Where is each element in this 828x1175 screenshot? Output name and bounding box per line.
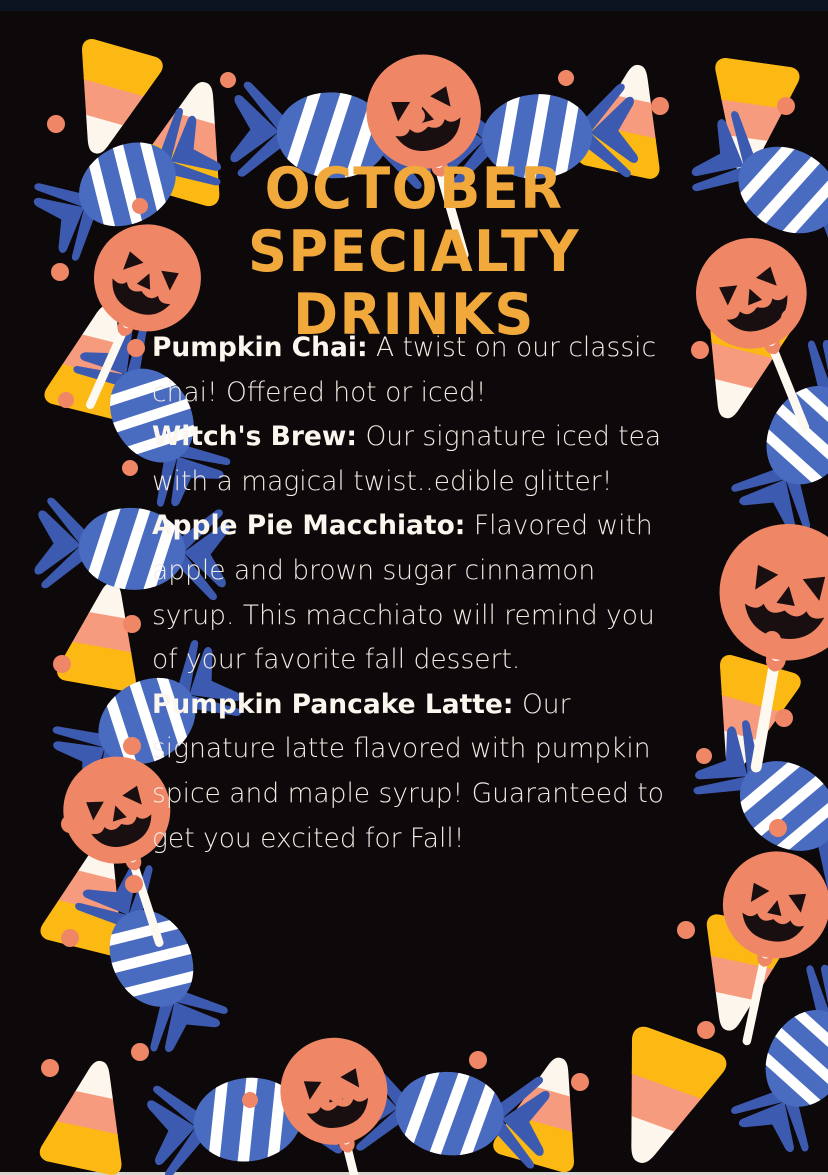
status-bar [0, 0, 828, 11]
confetti-dot-icon [51, 263, 69, 281]
confetti-dot-icon [328, 1086, 344, 1102]
confetti-dot-icon [122, 460, 138, 476]
title-line-1: OCTOBER SPECIALTY [116, 158, 713, 284]
drink-item: Witch's Brew: Our signature iced tea wit… [152, 415, 668, 504]
halloween-drinks-poster: OCTOBER SPECIALTY DRINKS Pumpkin Chai: A… [0, 0, 828, 1175]
confetti-dot-icon [777, 97, 795, 115]
drink-name: Pumpkin Chai: [152, 332, 368, 363]
confetti-dot-icon [131, 1043, 149, 1061]
confetti-dot-icon [53, 655, 71, 673]
confetti-dot-icon [558, 70, 574, 86]
confetti-dot-icon [763, 631, 781, 649]
confetti-dot-icon [697, 1021, 715, 1039]
drink-name: Pumpkin Pancake Latte: [152, 689, 514, 720]
confetti-dot-icon [571, 1073, 589, 1091]
confetti-dot-icon [123, 737, 141, 755]
confetti-dot-icon [677, 921, 695, 939]
confetti-dot-icon [651, 97, 669, 115]
confetti-dot-icon [41, 1059, 59, 1077]
confetti-dot-icon [125, 875, 143, 893]
confetti-dot-icon [123, 615, 141, 633]
confetti-dot-icon [47, 115, 65, 133]
confetti-dot-icon [61, 815, 79, 833]
confetti-dot-icon [696, 748, 712, 764]
confetti-dot-icon [220, 72, 236, 88]
confetti-dot-icon [61, 929, 79, 947]
drink-name: Witch's Brew: [152, 421, 357, 452]
drink-item: Pumpkin Chai: A twist on our classic cha… [152, 326, 668, 415]
confetti-dot-icon [469, 1051, 487, 1069]
drink-item: Apple Pie Macchiato: Flavored with apple… [152, 504, 668, 682]
drink-name: Apple Pie Macchiato: [152, 510, 465, 541]
page-title: OCTOBER SPECIALTY DRINKS [100, 158, 728, 347]
confetti-dot-icon [769, 819, 787, 837]
drink-item: Pumpkin Pancake Latte: Our signature lat… [152, 683, 668, 861]
confetti-dot-icon [407, 107, 425, 125]
drinks-list: Pumpkin Chai: A twist on our classic cha… [152, 326, 668, 861]
confetti-dot-icon [775, 709, 793, 727]
confetti-dot-icon [781, 309, 799, 327]
confetti-dot-icon [242, 1092, 258, 1108]
confetti-dot-icon [58, 392, 74, 408]
